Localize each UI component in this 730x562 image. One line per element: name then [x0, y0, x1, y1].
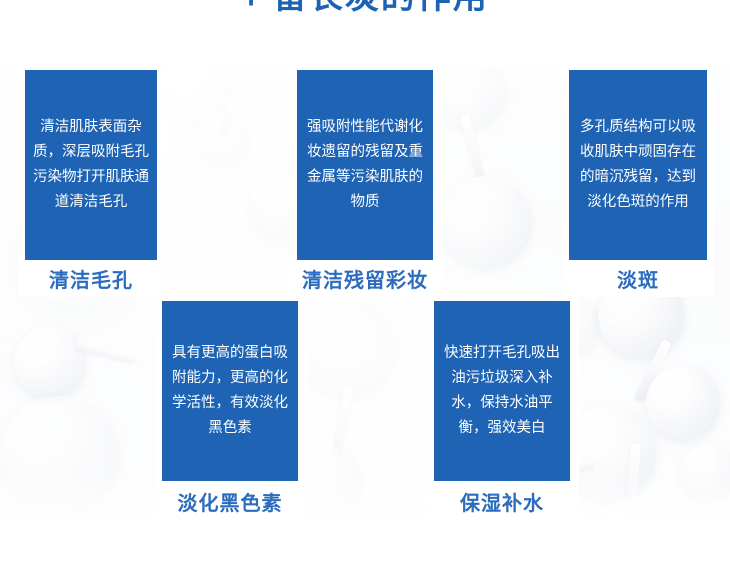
card-label: 淡化黑色素 [159, 481, 301, 521]
feature-card-remove-makeup-residue[interactable]: 强吸附性能代谢化妆遗留的残留及重金属等污染肌肤的物质 清洁残留彩妆 [290, 66, 442, 297]
card-label: 保湿补水 [431, 481, 573, 521]
feature-card-hydrate[interactable]: 快速打开毛孔吸出油污垃圾深入补水，保持水油平衡，强效美白 保湿补水 [427, 297, 579, 528]
card-body-text: 清洁肌肤表面杂质，深层吸附毛孔污染物打开肌肤通道清洁毛孔 [33, 115, 149, 215]
card-body-box: 快速打开毛孔吸出油污垃圾深入补水，保持水油平衡，强效美白 [434, 301, 570, 481]
card-label: 淡斑 [569, 260, 707, 297]
card-body-text: 强吸附性能代谢化妆遗留的残留及重金属等污染肌肤的物质 [305, 115, 425, 215]
card-body-box: 强吸附性能代谢化妆遗留的残留及重金属等污染肌肤的物质 [297, 70, 433, 260]
feature-card-cleanse-pores[interactable]: 清洁肌肤表面杂质，深层吸附毛孔污染物打开肌肤通道清洁毛孔 清洁毛孔 [18, 66, 164, 297]
feature-card-fade-melanin[interactable]: 具有更高的蛋白吸附能力，更高的化学活性，有效淡化黑色素 淡化黑色素 [155, 297, 307, 528]
page-title: + 留长炭的作用 [0, 0, 730, 20]
page-title-text: 留长炭的作用 [273, 0, 489, 20]
card-body-box: 具有更高的蛋白吸附能力，更高的化学活性，有效淡化黑色素 [162, 301, 298, 481]
feature-card-fade-spots[interactable]: 多孔质结构可以吸收肌肤中顽固存在的暗沉残留，达到淡化色斑的作用 淡斑 [562, 66, 714, 297]
card-body-text: 快速打开毛孔吸出油污垃圾深入补水，保持水油平衡，强效美白 [442, 341, 562, 441]
card-body-text: 具有更高的蛋白吸附能力，更高的化学活性，有效淡化黑色素 [170, 341, 290, 441]
promo-graphic: + 留长炭的作用 清洁肌肤表面杂质，深层吸附毛孔污染物打开肌肤通道清洁毛孔 清洁… [0, 0, 730, 562]
card-body-box: 多孔质结构可以吸收肌肤中顽固存在的暗沉残留，达到淡化色斑的作用 [569, 70, 707, 260]
card-label: 清洁毛孔 [25, 260, 157, 297]
card-body-text: 多孔质结构可以吸收肌肤中顽固存在的暗沉残留，达到淡化色斑的作用 [577, 115, 699, 215]
card-body-box: 清洁肌肤表面杂质，深层吸附毛孔污染物打开肌肤通道清洁毛孔 [25, 70, 157, 260]
plus-icon: + [241, 0, 261, 20]
card-label: 清洁残留彩妆 [294, 260, 436, 297]
